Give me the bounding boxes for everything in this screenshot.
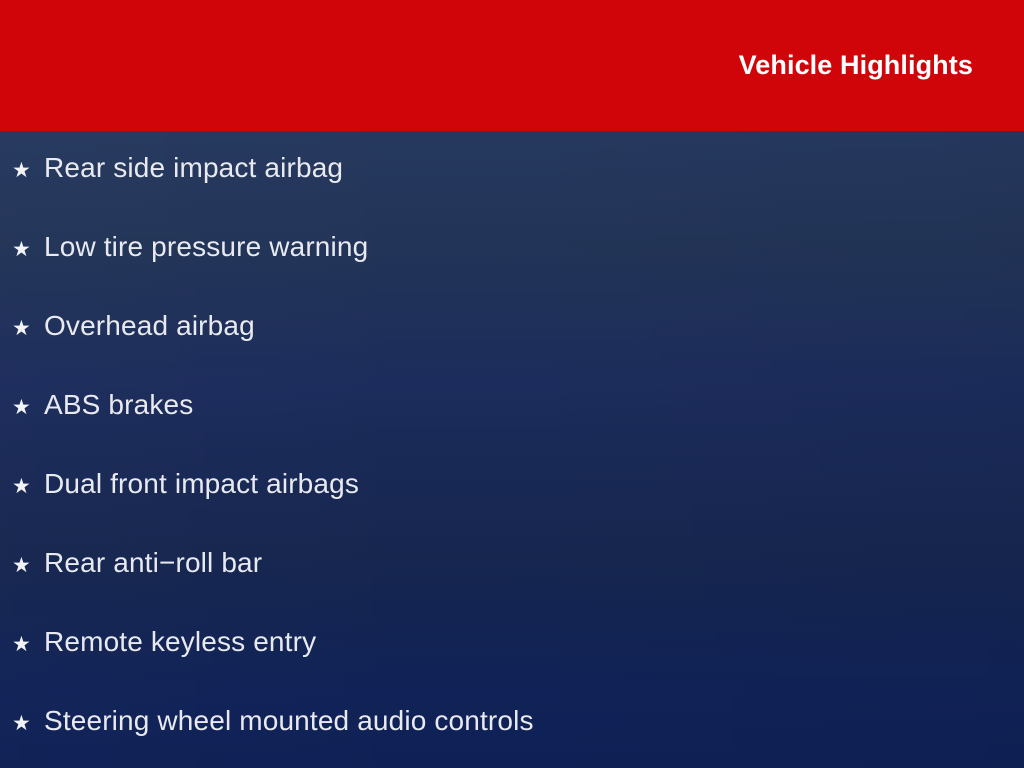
list-item: ★Dual front impact airbags [12, 465, 1024, 544]
highlight-label: Rear anti−roll bar [44, 544, 262, 582]
vehicle-highlights-list: ★Rear side impact airbag★Low tire pressu… [12, 149, 1024, 768]
list-item: ★Low tire pressure warning [12, 228, 1024, 307]
star-icon: ★ [12, 310, 44, 348]
star-icon: ★ [12, 547, 44, 585]
star-icon: ★ [12, 152, 44, 190]
highlight-label: ABS brakes [44, 386, 193, 424]
list-item: ★Remote keyless entry [12, 623, 1024, 702]
star-icon: ★ [12, 705, 44, 743]
header-banner: Vehicle Highlights [0, 0, 1024, 131]
list-item: ★ABS brakes [12, 386, 1024, 465]
list-item: ★Rear side impact airbag [12, 149, 1024, 228]
highlight-label: Low tire pressure warning [44, 228, 368, 266]
star-icon: ★ [12, 231, 44, 269]
highlight-label: Dual front impact airbags [44, 465, 359, 503]
list-item: ★Rear anti−roll bar [12, 544, 1024, 623]
star-icon: ★ [12, 389, 44, 427]
highlight-label: Steering wheel mounted audio controls [44, 702, 534, 740]
star-icon: ★ [12, 626, 44, 664]
list-item: ★Steering wheel mounted audio controls [12, 702, 1024, 768]
page-title: Vehicle Highlights [739, 48, 973, 82]
list-item: ★Overhead airbag [12, 307, 1024, 386]
highlight-label: Remote keyless entry [44, 623, 316, 661]
highlight-label: Rear side impact airbag [44, 149, 343, 187]
presentation-slide: Vehicle Highlights ★Rear side impact air… [0, 0, 1024, 768]
highlight-label: Overhead airbag [44, 307, 255, 345]
star-icon: ★ [12, 468, 44, 506]
